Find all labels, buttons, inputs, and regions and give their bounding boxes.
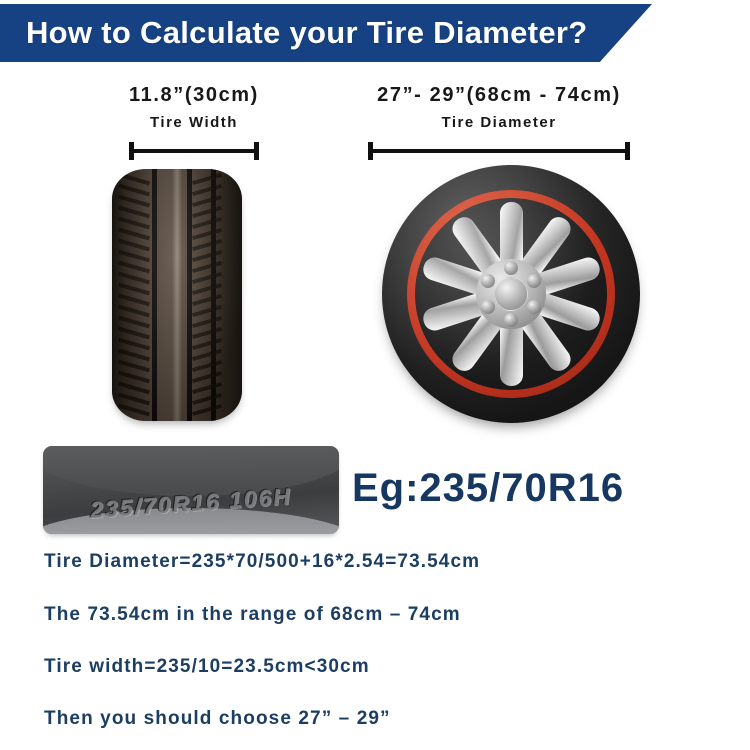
formula-line-range-check: The 73.54cm in the range of 68cm – 74cm [44,604,461,626]
wheel-lug-nut [504,261,518,275]
wheel-lug-nut [527,300,541,314]
measure-rule-icon [371,149,627,153]
wheel-center-cap [494,277,528,311]
alloy-wheel-image [382,165,640,423]
tire-diameter-value: 27”- 29”(68cm - 74cm) [334,84,664,107]
formula-line-diameter: Tire Diameter=235*70/500+16*2.54=73.54cm [44,551,480,573]
tire-width-value: 11.8”(30cm) [96,84,292,107]
tire-tread-image [112,169,242,421]
example-size-label: Eg:235/70R16 [352,466,624,511]
infographic-page: How to Calculate your Tire Diameter? 11.… [0,0,750,750]
formula-line-conclusion: Then you should choose 27” – 29” [44,708,391,730]
formula-line-width: Tire width=235/10=23.5cm<30cm [44,656,370,678]
tire-diameter-dimension-group: 27”- 29”(68cm - 74cm) Tire Diameter [334,84,664,160]
measure-rule-icon [132,149,256,153]
page-title: How to Calculate your Tire Diameter? [26,15,587,51]
tire-diameter-caption: Tire Diameter [334,114,664,131]
wheel-lug-nut [527,274,541,288]
wheel-lug-nut [504,313,518,327]
measure-cap-right-icon [625,142,630,160]
header-banner: How to Calculate your Tire Diameter? [0,4,652,62]
tire-width-measure-bar [129,142,259,160]
tire-width-dimension-group: 11.8”(30cm) Tire Width [96,84,292,160]
tire-diameter-measure-bar [368,142,630,160]
tread-shading-overlay [112,169,242,421]
tire-sidewall-image: 235/70R16 106H [43,446,339,534]
measure-cap-right-icon [254,142,259,160]
tire-width-caption: Tire Width [96,114,292,131]
